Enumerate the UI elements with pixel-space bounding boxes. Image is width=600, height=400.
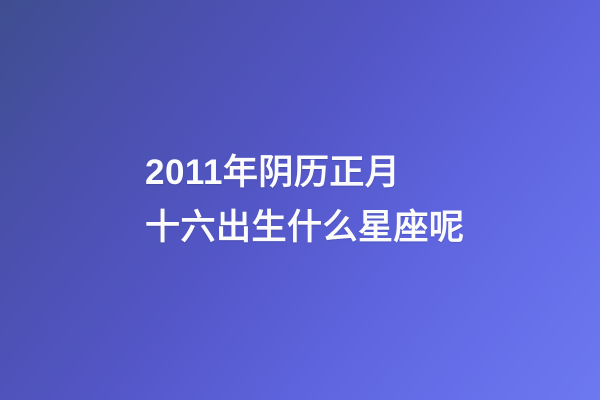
headline-line-2: 十六出生什么星座呢 [145,200,465,255]
title-card: 2011年阴历正月 十六出生什么星座呢 [0,0,600,400]
headline-block: 2011年阴历正月 十六出生什么星座呢 [0,145,485,255]
headline-line-1: 2011年阴历正月 [145,145,465,200]
